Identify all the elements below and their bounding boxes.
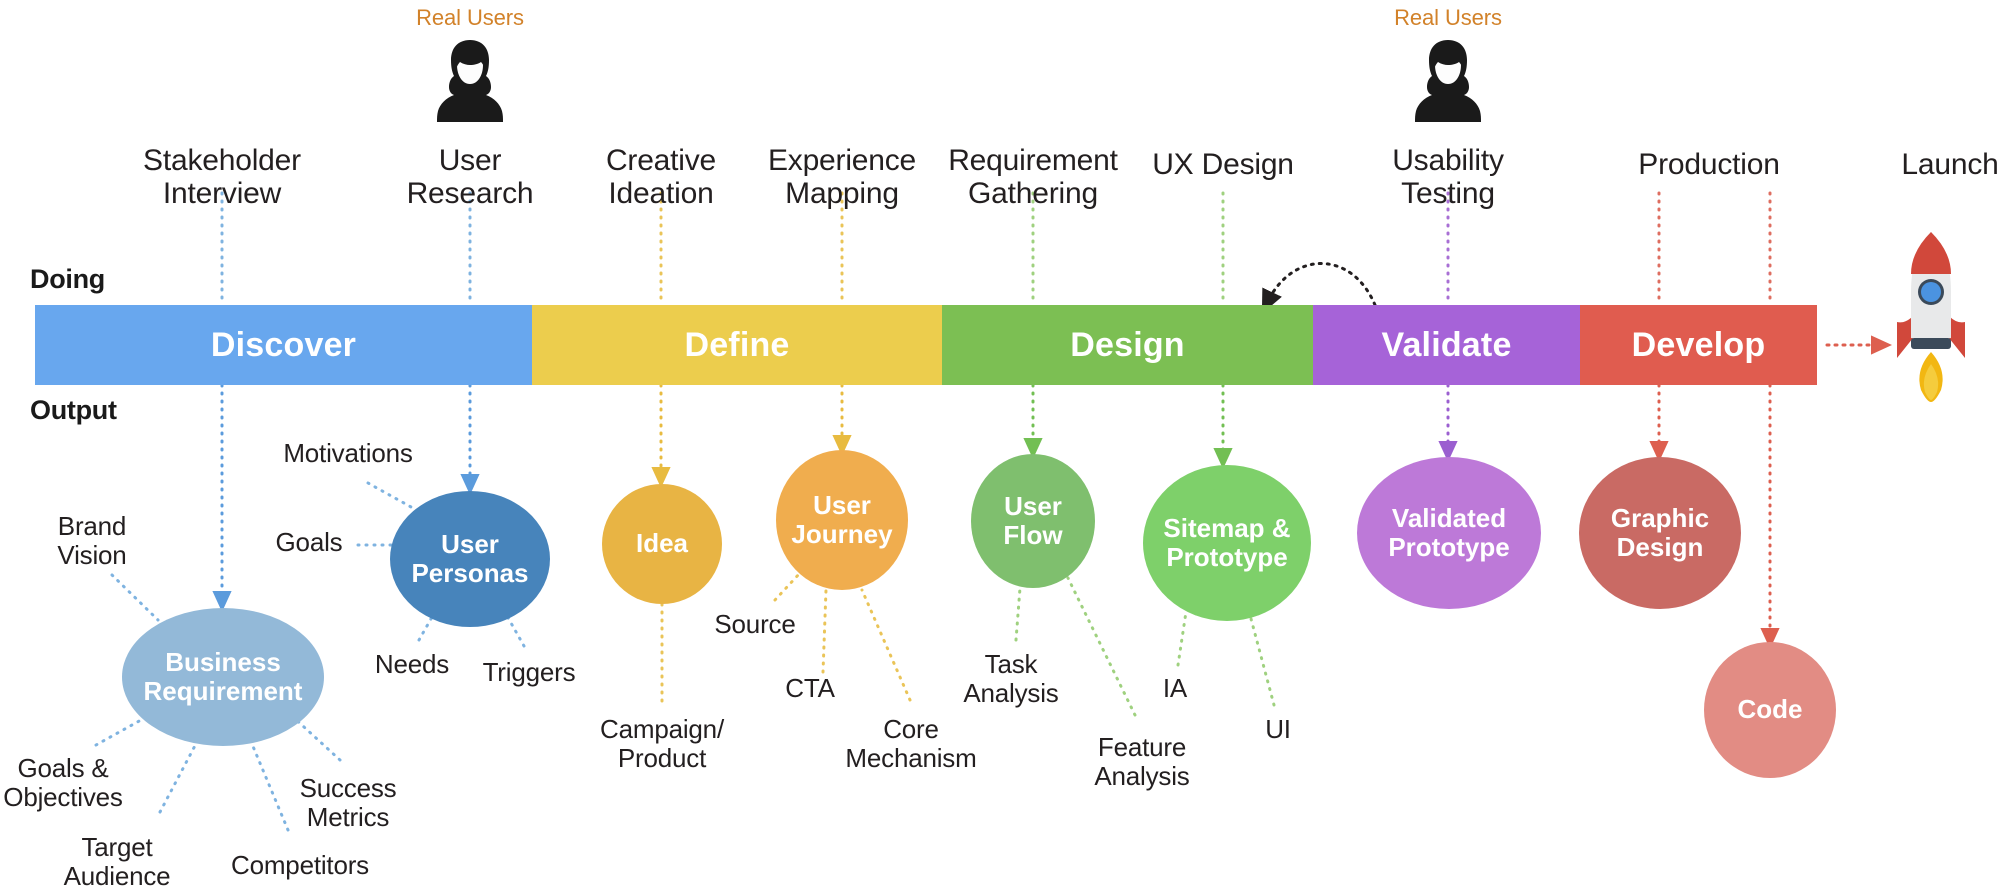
leaf-label-core-mechanism: Core Mechanism	[781, 715, 1041, 773]
output-bubble-user-journey[interactable]: User Journey	[776, 450, 908, 590]
leaf-label-ia: IA	[1045, 674, 1305, 703]
phase-design[interactable]: Design	[942, 305, 1313, 385]
leaf-label-goals: Goals	[179, 528, 439, 557]
row-label-output: Output	[30, 395, 117, 426]
phase-develop[interactable]: Develop	[1580, 305, 1817, 385]
leaf-label-goals-objectives: Goals & Objectives	[0, 754, 193, 812]
leaf-label-motivations: Motivations	[218, 439, 478, 468]
stage-label-launch[interactable]: Launch	[1810, 148, 2006, 181]
output-bubble-code[interactable]: Code	[1704, 642, 1836, 778]
phase-bar: DiscoverDefineDesignValidateDevelop	[35, 305, 1817, 385]
output-bubble-sitemap-prototype[interactable]: Sitemap & Prototype	[1143, 465, 1311, 621]
leaf-label-success-metrics: Success Metrics	[218, 774, 478, 832]
leaf-label-source: Source	[625, 610, 885, 639]
real-users-label-user-research: Real Users	[360, 5, 580, 31]
stage-label-stakeholder-interview[interactable]: Stakeholder Interview	[82, 144, 362, 210]
phase-define[interactable]: Define	[532, 305, 942, 385]
phase-discover[interactable]: Discover	[35, 305, 532, 385]
phase-validate[interactable]: Validate	[1313, 305, 1580, 385]
rocket-icon	[1897, 232, 1965, 402]
output-bubble-user-flow[interactable]: User Flow	[971, 454, 1095, 588]
leaf-label-competitors: Competitors	[170, 851, 430, 880]
output-bubble-graphic-design[interactable]: Graphic Design	[1579, 457, 1741, 609]
row-label-doing: Doing	[30, 264, 105, 295]
ux-process-diagram: Doing Output Stakeholder InterviewReal U…	[0, 0, 2006, 892]
leaf-label-campaign-product: Campaign/ Product	[532, 715, 792, 773]
real-users-label-usability-testing: Real Users	[1338, 5, 1558, 31]
output-bubble-idea[interactable]: Idea	[602, 484, 722, 604]
output-bubble-user-personas[interactable]: User Personas	[390, 491, 550, 627]
user-avatar-icon	[431, 36, 509, 122]
stage-label-production[interactable]: Production	[1569, 148, 1849, 181]
stage-label-usability-testing[interactable]: Usability Testing	[1308, 144, 1588, 210]
output-bubble-validated-prototype[interactable]: Validated Prototype	[1357, 457, 1541, 609]
leaf-label-triggers: Triggers	[399, 658, 659, 687]
user-avatar-icon	[1409, 36, 1487, 122]
leaf-label-ui: UI	[1148, 715, 1408, 744]
